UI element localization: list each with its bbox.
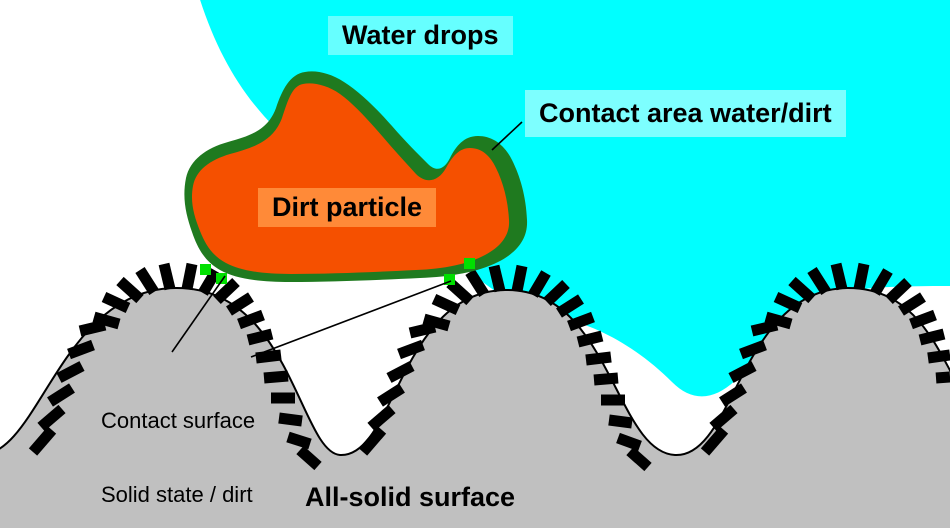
all-solid-surface-label: All-solid surface [305, 482, 515, 512]
contact-dot [200, 264, 211, 275]
water-drops-label: Water drops [328, 16, 513, 55]
contact-area-label: Contact area water/dirt [525, 90, 846, 137]
contact-surface-line-2: Solid state / dirt [101, 483, 255, 508]
contact-surface-line-1: Contact surface [101, 409, 255, 434]
contact-dot [464, 258, 475, 269]
contact-surface-label: Contact surface Solid state / dirt [101, 360, 255, 532]
dirt-particle-label: Dirt particle [258, 188, 436, 227]
diagram-canvas: Water drops Contact area water/dirt Dirt… [0, 0, 950, 528]
